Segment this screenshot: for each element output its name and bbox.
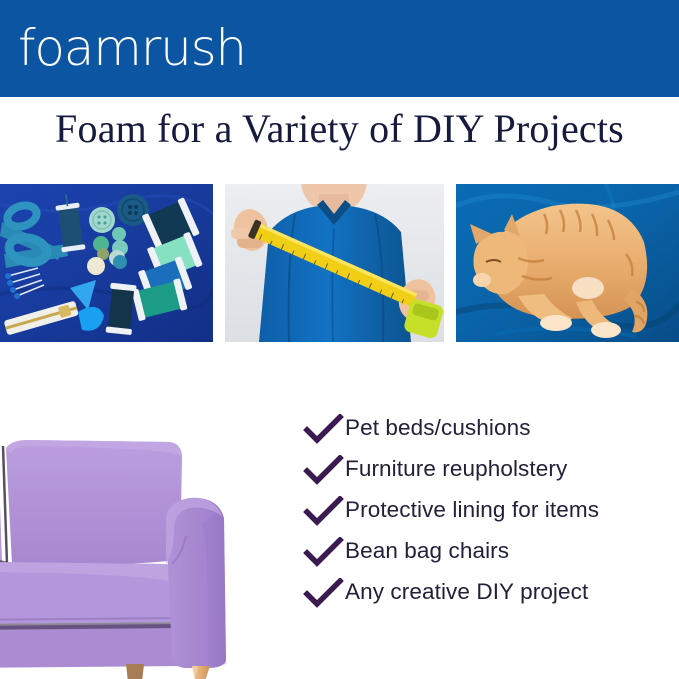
brand-logo: foamrush — [18, 23, 246, 73]
check-icon — [303, 578, 345, 608]
sewing-supplies-photo — [0, 184, 213, 342]
list-item: Bean bag chairs — [303, 531, 679, 572]
header-bar: foamrush — [0, 0, 679, 97]
list-item: Pet beds/cushions — [303, 408, 679, 449]
check-icon — [303, 414, 345, 444]
photo-strip — [0, 184, 679, 342]
list-item-label: Furniture reupholstery — [345, 458, 567, 481]
cat-on-cushion-photo — [456, 184, 679, 342]
page-title: Foam for a Variety of DIY Projects — [0, 108, 679, 150]
list-item-label: Any creative DIY project — [345, 581, 588, 604]
check-icon — [303, 496, 345, 526]
check-icon — [303, 455, 345, 485]
tape-measure-photo — [225, 184, 444, 342]
list-item: Any creative DIY project — [303, 572, 679, 613]
list-item: Protective lining for items — [303, 490, 679, 531]
purple-sofa-illustration — [0, 432, 258, 679]
feature-list: Pet beds/cushions Furniture reupholstery… — [303, 408, 679, 613]
check-icon — [303, 537, 345, 567]
list-item-label: Bean bag chairs — [345, 540, 509, 563]
list-item-label: Pet beds/cushions — [345, 417, 531, 440]
list-item-label: Protective lining for items — [345, 499, 599, 522]
list-item: Furniture reupholstery — [303, 449, 679, 490]
